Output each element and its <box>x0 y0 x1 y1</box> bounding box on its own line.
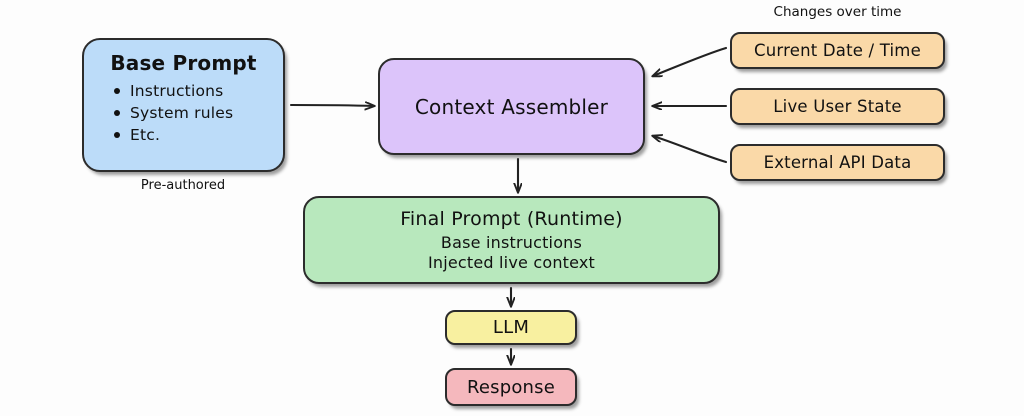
base-prompt-bullet-list: Instructions System rules Etc. <box>84 80 233 146</box>
node-context-assembler[interactable]: Context Assembler <box>378 58 645 155</box>
node-llm[interactable]: LLM <box>445 310 577 345</box>
list-item: System rules <box>114 102 233 124</box>
base-prompt-title: Base Prompt <box>84 52 283 74</box>
node-external-api-data[interactable]: External API Data <box>730 144 945 181</box>
caption-changes-over-time: Changes over time <box>730 4 945 20</box>
list-item: Instructions <box>114 80 233 102</box>
external-api-data-label: External API Data <box>764 153 912 172</box>
live-user-state-label: Live User State <box>773 97 901 116</box>
caption-pre-authored: Pre-authored <box>0 178 366 193</box>
node-base-prompt[interactable]: Base Prompt Instructions System rules Et… <box>82 38 285 172</box>
edge-base-prompt-to-context-assembler <box>291 105 374 106</box>
edge-external-api-data-to-context-assembler <box>653 136 726 162</box>
diagram-canvas: Base Prompt Instructions System rules Et… <box>0 0 1024 416</box>
node-current-date-time[interactable]: Current Date / Time <box>730 32 945 69</box>
node-live-user-state[interactable]: Live User State <box>730 88 945 125</box>
final-prompt-line-2: Injected live context <box>428 253 595 273</box>
node-final-prompt[interactable]: Final Prompt (Runtime) Base instructions… <box>303 196 720 284</box>
current-date-time-label: Current Date / Time <box>754 41 921 60</box>
list-item: Etc. <box>114 124 233 146</box>
edge-current-date-time-to-context-assembler <box>653 48 726 76</box>
final-prompt-line-1: Base instructions <box>441 233 582 253</box>
llm-label: LLM <box>493 317 529 338</box>
context-assembler-label: Context Assembler <box>415 96 608 118</box>
final-prompt-title: Final Prompt (Runtime) <box>400 208 623 231</box>
response-label: Response <box>467 377 555 398</box>
node-response[interactable]: Response <box>445 368 577 406</box>
